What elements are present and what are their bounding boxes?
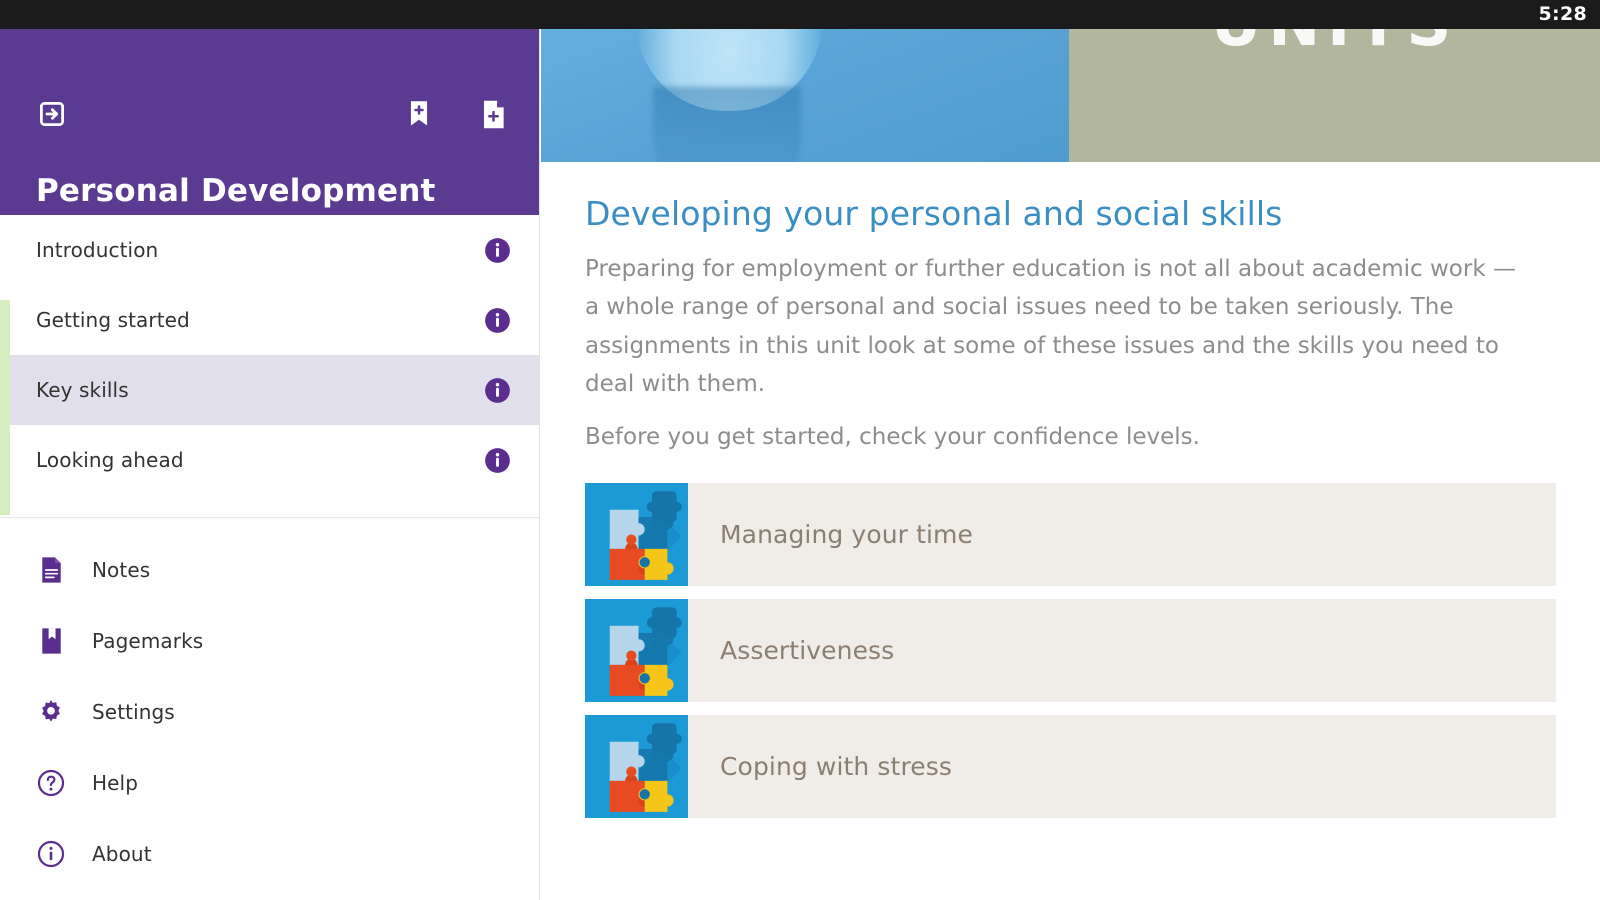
prompt-paragraph: Before you get started, check your confi…: [585, 418, 1525, 457]
main-content: UNITS Developing your personal and socia…: [541, 29, 1600, 900]
sidebar-menu-notes[interactable]: Notes: [0, 534, 539, 605]
sidebar-menu-label: Pagemarks: [92, 629, 203, 653]
info-icon[interactable]: [484, 447, 511, 474]
status-bar-clock: 5:28: [1539, 5, 1600, 24]
sidebar-item-label: Introduction: [36, 238, 484, 262]
info-icon[interactable]: [484, 377, 511, 404]
sidebar-menu-about[interactable]: About: [0, 818, 539, 889]
banner-shadow-shape: [653, 87, 801, 162]
sidebar-item-introduction[interactable]: Introduction: [0, 215, 539, 285]
gear-icon: [36, 697, 66, 727]
sidebar-title: Personal Development: [36, 173, 436, 209]
info-circle-icon: [36, 839, 66, 869]
banner-sage-panel: UNITS: [1069, 29, 1600, 162]
sidebar-menu-pagemarks[interactable]: Pagemarks: [0, 605, 539, 676]
sidebar-menu-label: Help: [92, 771, 138, 795]
activity-list: Managing your time: [585, 483, 1556, 818]
info-icon[interactable]: [484, 237, 511, 264]
sidebar-menu-settings[interactable]: Settings: [0, 676, 539, 747]
banner-blue-panel: [541, 29, 1069, 162]
banner-title-text: UNITS: [1211, 29, 1458, 60]
add-note-icon[interactable]: [475, 96, 511, 132]
sidebar-item-key-skills[interactable]: Key skills: [0, 355, 539, 425]
sidebar-menu-label: Notes: [92, 558, 150, 582]
sidebar-header-actions: [0, 84, 539, 144]
sidebar-menu-label: Settings: [92, 700, 175, 724]
sidebar-item-label: Key skills: [36, 378, 484, 402]
puzzle-icon: [585, 483, 688, 586]
list-item-label: Coping with stress: [688, 715, 952, 818]
sidebar-item-label: Looking ahead: [36, 448, 484, 472]
add-pagemark-icon[interactable]: [401, 96, 437, 132]
sidebar-menu-list: Notes Pagemarks Settin: [0, 518, 539, 889]
puzzle-icon: [585, 599, 688, 702]
status-bar: 5:28: [0, 0, 1600, 29]
help-circle-icon: [36, 768, 66, 798]
sidebar-menu-label: About: [92, 842, 152, 866]
page-title: Developing your personal and social skil…: [585, 194, 1556, 234]
sidebar-menu-help[interactable]: Help: [0, 747, 539, 818]
sidebar-item-label: Getting started: [36, 308, 484, 332]
sidebar-header: Personal Development: [0, 29, 539, 215]
login-icon[interactable]: [34, 96, 70, 132]
sidebar-item-looking-ahead[interactable]: Looking ahead: [0, 425, 539, 495]
sidebar-divider: [0, 517, 539, 518]
list-item[interactable]: Assertiveness: [585, 599, 1556, 702]
list-item-label: Assertiveness: [688, 599, 894, 702]
sidebar-item-getting-started[interactable]: Getting started: [0, 285, 539, 355]
list-item[interactable]: Coping with stress: [585, 715, 1556, 818]
puzzle-icon: [585, 715, 688, 818]
note-icon: [36, 555, 66, 585]
list-item[interactable]: Managing your time: [585, 483, 1556, 586]
intro-paragraph: Preparing for employment or further educ…: [585, 250, 1525, 405]
list-item-label: Managing your time: [688, 483, 973, 586]
info-icon[interactable]: [484, 307, 511, 334]
content-body: Developing your personal and social skil…: [541, 162, 1600, 818]
sidebar: Personal Development Introduction Gettin…: [0, 29, 540, 900]
bookmark-icon: [36, 626, 66, 656]
sidebar-nav-list: Introduction Getting started: [0, 215, 539, 518]
hero-banner: UNITS: [541, 29, 1600, 162]
app-root: 5:28: [0, 0, 1600, 900]
